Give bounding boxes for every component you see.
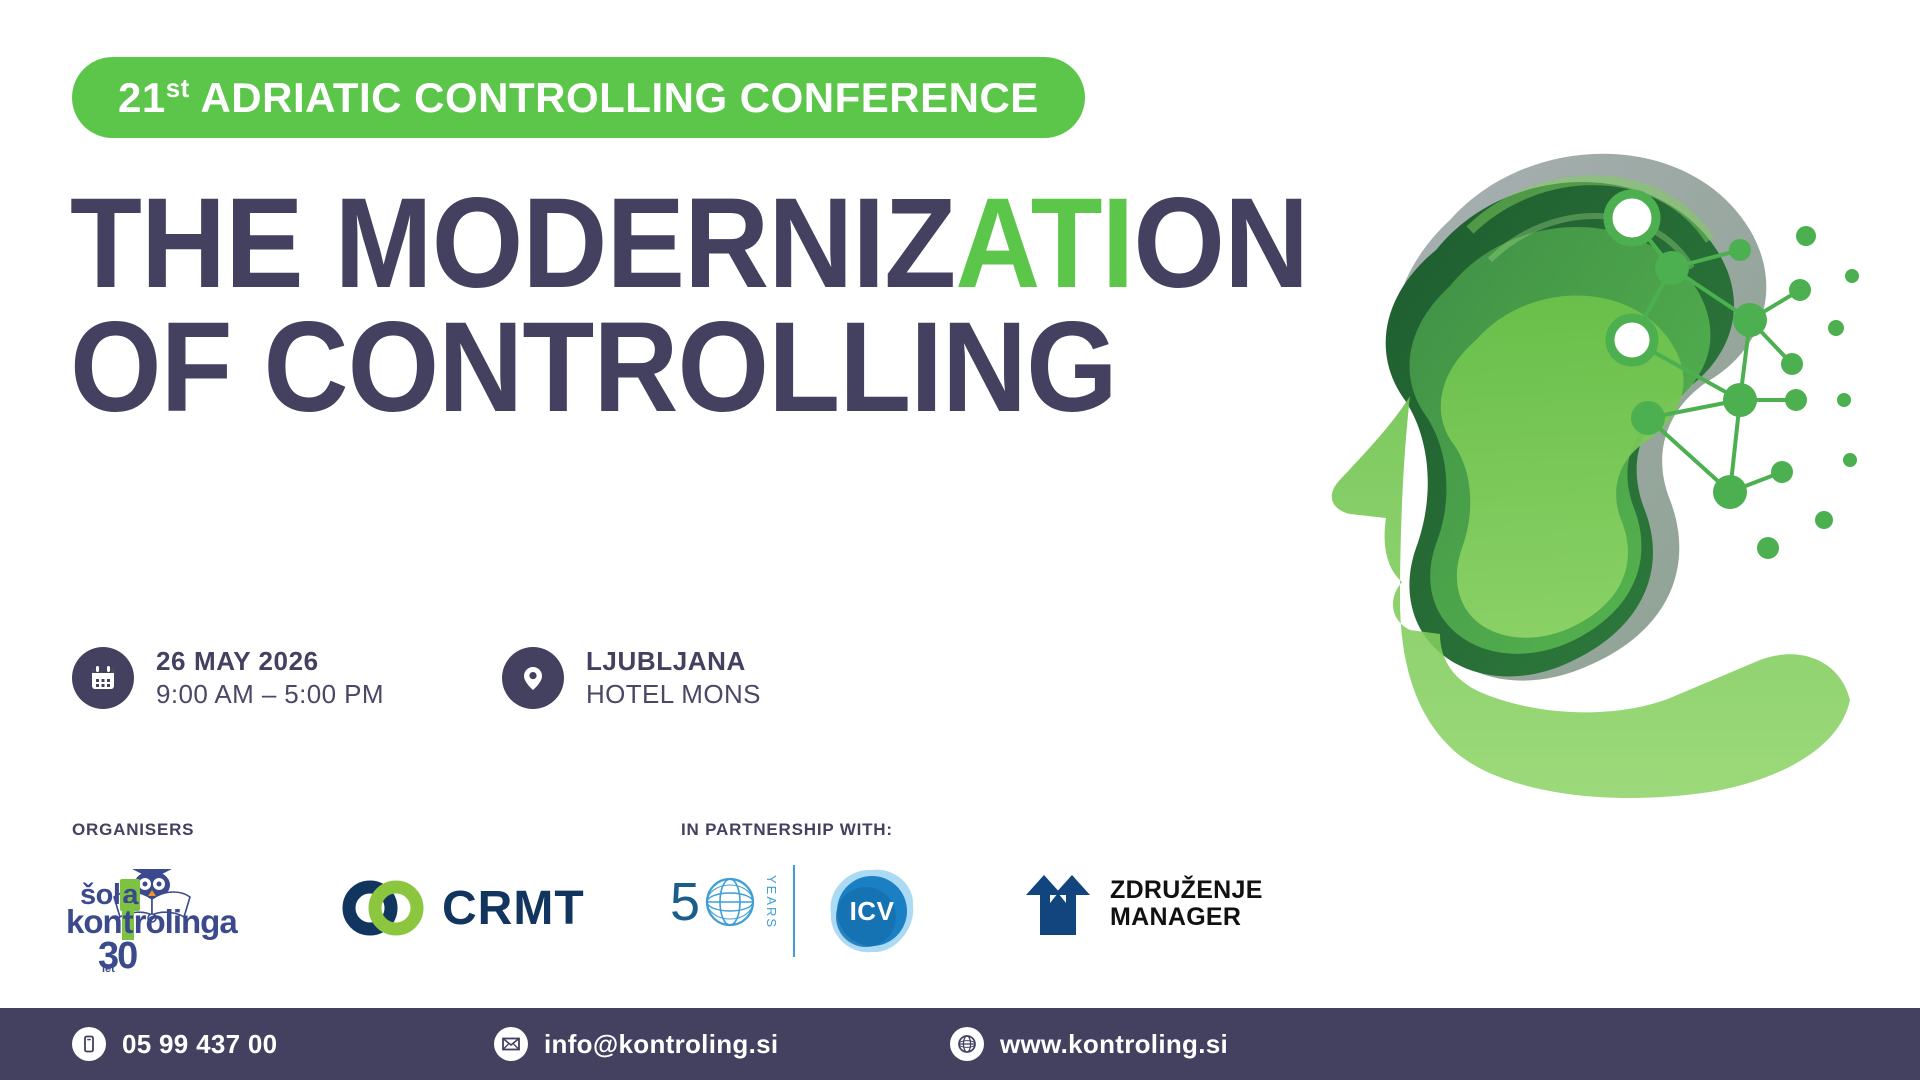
event-location-block: LJUBLJANA HOTEL MONS: [502, 645, 761, 710]
icv-label: ICV: [826, 865, 918, 957]
headline-line-2: OF CONTROLLING: [70, 306, 999, 430]
headline-line-1: THE MODERNIZATION: [70, 182, 999, 306]
event-time: 9:00 AM – 5:00 PM: [156, 678, 384, 711]
event-date: 26 MAY 2026: [156, 645, 384, 678]
event-details: 26 MAY 2026 9:00 AM – 5:00 PM LJUBLJANA …: [72, 645, 761, 710]
map-pin-icon: [502, 647, 564, 709]
logo-row: šola kontrolinga 30 let CRMT 5 Y: [0, 855, 1920, 985]
kontrolinga-text: kontrolinga: [66, 903, 237, 941]
logo-50-years: 5 YEARS: [670, 875, 779, 929]
crmt-rings-icon: [340, 877, 426, 939]
logo-crmt: CRMT: [340, 877, 585, 939]
footer-website[interactable]: www.kontroling.si: [950, 1027, 1228, 1061]
event-location-text: LJUBLJANA HOTEL MONS: [586, 645, 761, 710]
sola-anniversary-unit: let: [102, 963, 115, 975]
footer-email[interactable]: info@kontroling.si: [494, 1027, 778, 1061]
logo-sola-kontrolinga: šola kontrolinga 30 let: [60, 855, 245, 980]
double-arrow-icon: [1020, 873, 1096, 935]
badge-title: ADRIATIC CONTROLLING CONFERENCE: [190, 74, 1039, 121]
event-date-block: 26 MAY 2026 9:00 AM – 5:00 PM: [72, 645, 384, 710]
zm-line-2: MANAGER: [1110, 904, 1263, 932]
conference-poster: 21st ADRIATIC CONTROLLING CONFERENCE THE…: [0, 0, 1920, 1080]
globe-icon: [950, 1027, 984, 1061]
organisers-label: ORGANISERS: [72, 820, 194, 840]
website-text: www.kontroling.si: [1000, 1029, 1228, 1060]
ai-head-illustration: [1240, 100, 1920, 820]
phone-icon: [72, 1027, 106, 1061]
conference-title-badge: 21st ADRIATIC CONTROLLING CONFERENCE: [72, 57, 1085, 138]
event-date-text: 26 MAY 2026 9:00 AM – 5:00 PM: [156, 645, 384, 710]
partnership-label: IN PARTNERSHIP WITH:: [681, 820, 893, 840]
badge-ordinal-suffix: st: [166, 73, 190, 103]
contact-footer: 05 99 437 00 info@kontroling.si: [0, 1008, 1920, 1080]
zm-line-1: ZDRUŽENJE: [1110, 877, 1263, 905]
event-city: LJUBLJANA: [586, 645, 761, 678]
page-title: THE MODERNIZATION OF CONTROLLING: [70, 182, 1080, 430]
logo-zdruzenje-manager: ZDRUŽENJE MANAGER: [1020, 873, 1263, 935]
zdruzenje-manager-label: ZDRUŽENJE MANAGER: [1110, 877, 1263, 932]
envelope-icon: [494, 1027, 528, 1061]
logo-divider: [793, 865, 795, 957]
fifty-number: 5: [670, 875, 698, 929]
calendar-icon: [72, 647, 134, 709]
crmt-label: CRMT: [442, 881, 585, 936]
headline-accent: ATI: [955, 172, 1133, 315]
fifty-years-label: YEARS: [764, 875, 779, 929]
badge-label: 21st ADRIATIC CONTROLLING CONFERENCE: [118, 73, 1039, 122]
event-venue: HOTEL MONS: [586, 678, 761, 711]
globe-icon: [704, 876, 756, 928]
logo-icv: ICV: [826, 865, 918, 957]
footer-phone[interactable]: 05 99 437 00: [72, 1027, 277, 1061]
phone-text: 05 99 437 00: [122, 1029, 277, 1060]
badge-number: 21: [118, 74, 166, 121]
email-text: info@kontroling.si: [544, 1029, 778, 1060]
headline-part-a: THE MODERNIZ: [70, 172, 955, 315]
